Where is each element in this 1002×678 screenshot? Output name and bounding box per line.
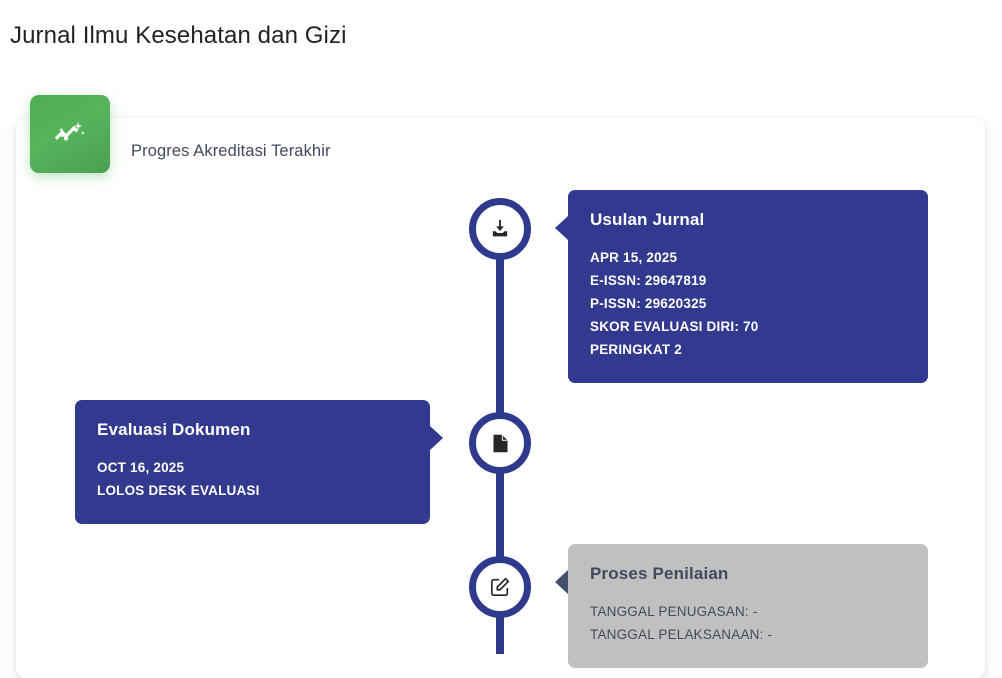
card-detail-line: PERINGKAT 2: [590, 338, 906, 361]
document-file-icon: [490, 433, 511, 454]
timeline-node-proses-penilaian[interactable]: [469, 556, 531, 618]
card-title: Proses Penilaian: [590, 564, 906, 584]
edit-square-icon: [489, 576, 511, 598]
card-detail-line: LOLOS DESK EVALUASI: [97, 479, 408, 502]
timeline-node-evaluasi-dokumen[interactable]: [469, 412, 531, 474]
card-title: Evaluasi Dokumen: [97, 420, 408, 440]
timeline-card-proses-penilaian[interactable]: Proses Penilaian TANGGAL PENUGASAN: - TA…: [568, 544, 928, 668]
timeline-card-evaluasi-dokumen[interactable]: Evaluasi Dokumen OCT 16, 2025 LOLOS DESK…: [75, 400, 430, 524]
timeline-card-usulan-jurnal[interactable]: Usulan Jurnal APR 15, 2025 E-ISSN: 29647…: [568, 190, 928, 383]
page-title: Jurnal Ilmu Kesehatan dan Gizi: [10, 22, 347, 50]
card-pointer-icon: [430, 426, 443, 450]
card-title: Usulan Jurnal: [590, 210, 906, 230]
card-detail-line: P-ISSN: 29620325: [590, 292, 906, 315]
card-pointer-icon: [555, 216, 568, 240]
card-detail-line: E-ISSN: 29647819: [590, 269, 906, 292]
progress-badge: [30, 95, 110, 173]
card-pointer-icon: [555, 570, 568, 594]
timeline-node-usulan-jurnal[interactable]: [469, 198, 531, 260]
card-detail-line: TANGGAL PELAKSANAAN: -: [590, 623, 906, 646]
accreditation-timeline: Usulan Jurnal APR 15, 2025 E-ISSN: 29647…: [16, 118, 985, 678]
trend-sparkle-icon: [52, 116, 88, 152]
card-detail-line: APR 15, 2025: [590, 246, 906, 269]
card-detail-line: TANGGAL PENUGASAN: -: [590, 600, 906, 623]
download-inbox-icon: [489, 218, 511, 240]
card-detail-line: OCT 16, 2025: [97, 456, 408, 479]
card-detail-line: SKOR EVALUASI DIRI: 70: [590, 315, 906, 338]
